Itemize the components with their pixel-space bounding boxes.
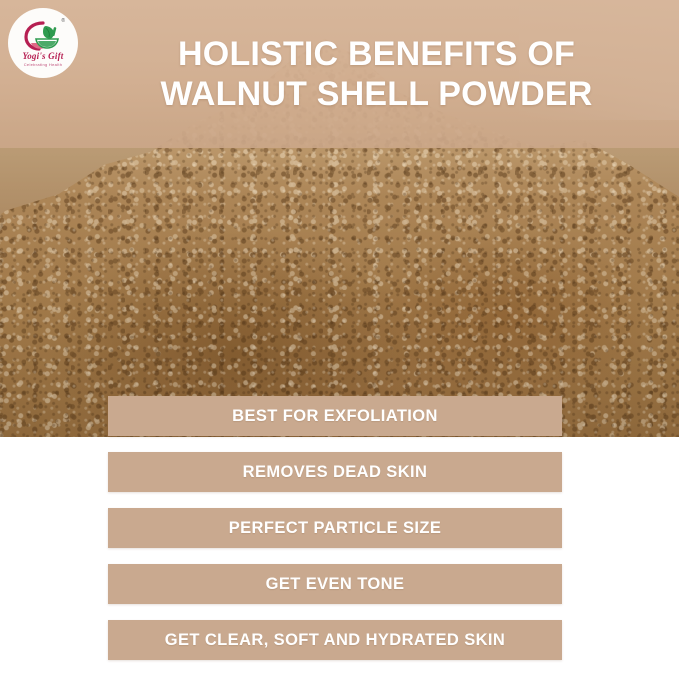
benefit-bar: GET EVEN TONE [108, 564, 562, 604]
leaf-mortar-pestle-icon [23, 21, 63, 51]
header-band: HOLISTIC BENEFITS OF WALNUT SHELL POWDER [0, 0, 679, 148]
benefit-label: PERFECT PARTICLE SIZE [229, 519, 442, 538]
logo-tagline: Celebrating Health [8, 62, 78, 67]
benefit-bar: BEST FOR EXFOLIATION [108, 396, 562, 436]
registered-trademark-mark: ® [61, 18, 65, 24]
brand-logo[interactable]: Yogi's Gift Celebrating Health ® [8, 8, 78, 78]
benefit-bar: GET CLEAR, SOFT AND HYDRATED SKIN [108, 620, 562, 660]
benefit-label: REMOVES DEAD SKIN [243, 463, 428, 482]
benefit-label: GET CLEAR, SOFT AND HYDRATED SKIN [165, 631, 505, 650]
benefit-bar: PERFECT PARTICLE SIZE [108, 508, 562, 548]
benefit-bar: REMOVES DEAD SKIN [108, 452, 562, 492]
page-title-line-2: WALNUT SHELL POWDER [92, 74, 661, 114]
benefit-label: GET EVEN TONE [266, 575, 405, 594]
logo-brand-name: Yogi's Gift [8, 51, 78, 61]
benefit-label: BEST FOR EXFOLIATION [232, 407, 438, 426]
page-title: HOLISTIC BENEFITS OF WALNUT SHELL POWDER [92, 34, 661, 114]
product-infographic: HOLISTIC BENEFITS OF WALNUT SHELL POWDER… [0, 0, 679, 679]
page-title-line-1: HOLISTIC BENEFITS OF [178, 35, 575, 73]
benefits-list: BEST FOR EXFOLIATION REMOVES DEAD SKIN P… [108, 396, 562, 660]
